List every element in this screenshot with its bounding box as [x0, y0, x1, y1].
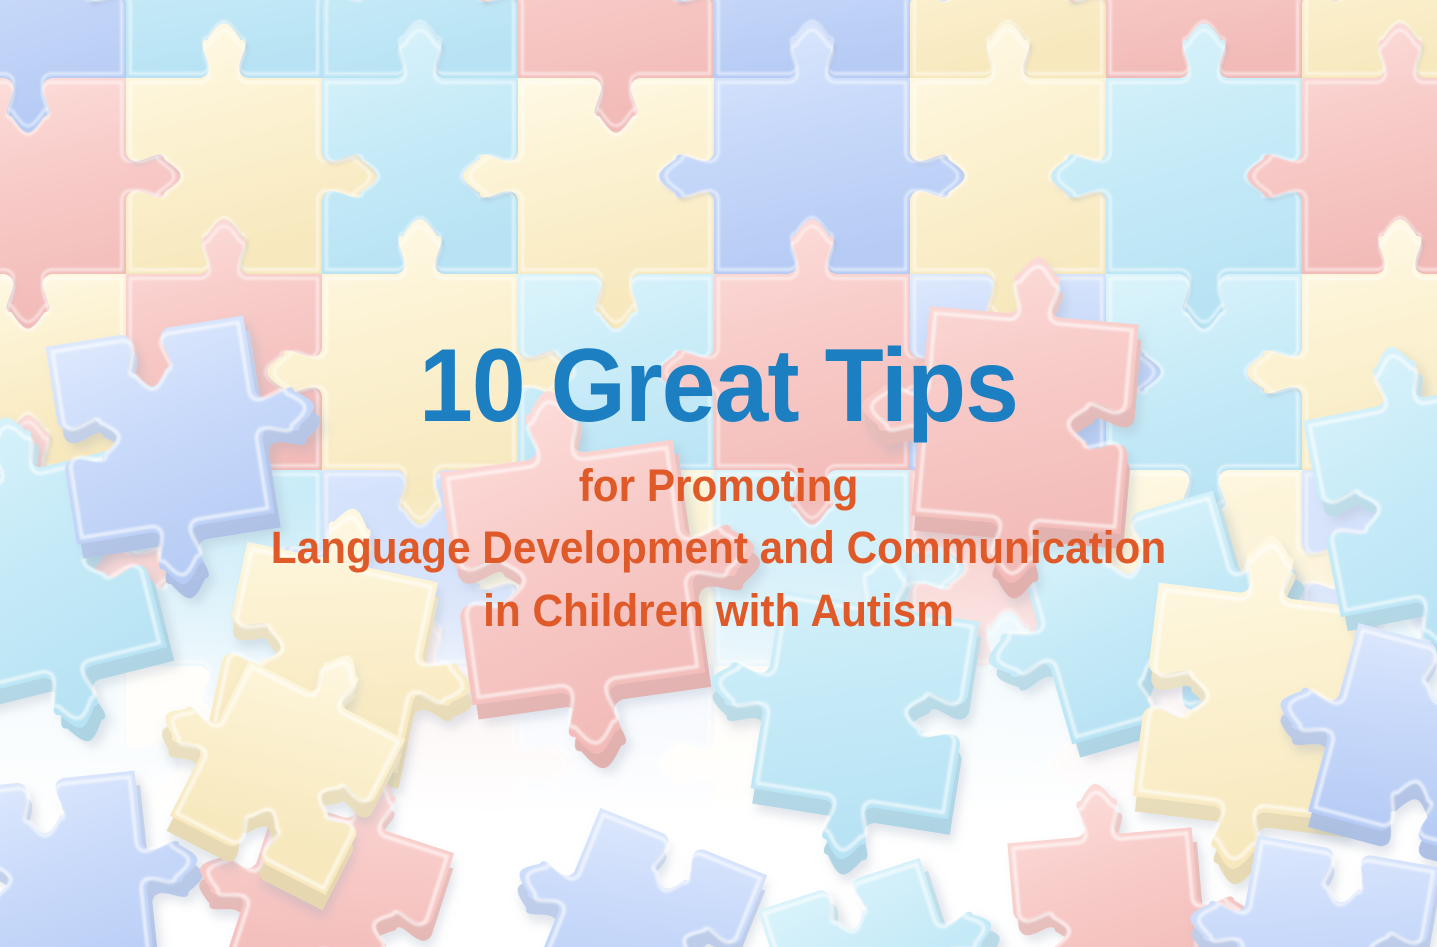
poster-canvas: 10 Great Tips for Promoting Language Dev… — [0, 0, 1437, 947]
puzzle-background — [0, 0, 1437, 947]
